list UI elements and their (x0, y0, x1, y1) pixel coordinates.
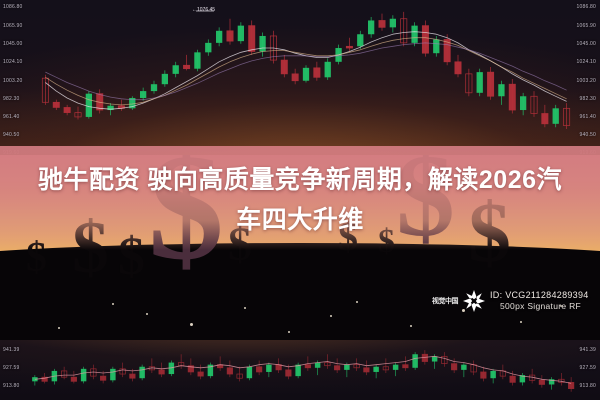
y-axis-label-right-2: 1045.00 (577, 41, 596, 47)
y-axis-label-right-4: 1003.20 (577, 78, 596, 84)
y-axis-label-right-6: 961.40 (580, 114, 597, 120)
watermark: 视觉中国 ID: VCG211284289394 500px Signature… (432, 288, 589, 314)
visual-china-logo-icon (461, 288, 487, 314)
y-axis-label-bottom-left-2: 913.80 (3, 383, 20, 389)
sparkle (244, 307, 246, 309)
y-axis-label-bottom-left-1: 927.59 (3, 365, 20, 371)
sparkle (112, 303, 114, 305)
top-price-chart: 1086.80 1065.90 1045.00 1024.10 1003.20 … (0, 0, 600, 160)
watermark-text: ID: VCG211284289394 500px Signature RF (490, 290, 589, 312)
price-annotation: ←1076.45 (192, 7, 215, 13)
y-axis-label-right-3: 1024.10 (577, 59, 596, 65)
y-axis-label-bottom-left-0: 941.39 (3, 347, 20, 353)
y-axis-label-left-1: 1065.90 (3, 23, 22, 29)
watermark-brand-label: 视觉中国 (432, 296, 458, 306)
top-chart-plot (0, 0, 600, 160)
y-axis-label-bottom-right-2: 913.80 (580, 383, 597, 389)
sparkle (330, 315, 332, 317)
y-axis-label-left-7: 940.50 (3, 132, 20, 138)
sparkle (356, 301, 358, 303)
bottom-price-chart: 941.39 927.59 913.80 941.39 927.59 913.8… (0, 340, 600, 400)
y-axis-label-left-0: 1086.80 (3, 4, 22, 10)
y-axis-label-left-6: 961.40 (3, 114, 20, 120)
bottom-chart-plot (0, 340, 600, 400)
sparkle (520, 321, 522, 323)
watermark-license: 500px Signature RF (490, 301, 589, 312)
y-axis-label-right-5: 982.30 (580, 96, 597, 102)
y-axis-label-bottom-right-0: 941.39 (580, 347, 597, 353)
watermark-id: ID: VCG211284289394 (490, 290, 589, 301)
page-title-line-1: 驰牛配资 驶向高质量竞争新周期，解读2026汽 (18, 160, 582, 200)
sparkle (190, 323, 193, 326)
y-axis-label-left-2: 1045.00 (3, 41, 22, 47)
page-title-line-2: 车四大升维 (18, 200, 582, 240)
sparkle (58, 327, 60, 329)
y-axis-label-bottom-right-1: 927.59 (580, 365, 597, 371)
y-axis-label-right-0: 1086.80 (577, 4, 596, 10)
y-axis-label-left-5: 982.30 (3, 96, 20, 102)
y-axis-label-left-3: 1024.10 (3, 59, 22, 65)
sparkle (410, 325, 412, 327)
y-axis-label-right-7: 940.50 (580, 132, 597, 138)
article-cover-image: 1086.80 1065.90 1045.00 1024.10 1003.20 … (0, 0, 600, 400)
sparkle (146, 313, 148, 315)
y-axis-label-right-1: 1065.90 (577, 23, 596, 29)
y-axis-label-left-4: 1003.20 (3, 78, 22, 84)
sparkle (288, 331, 290, 333)
page-title: 驰牛配资 驶向高质量竞争新周期，解读2026汽 车四大升维 (18, 160, 582, 240)
